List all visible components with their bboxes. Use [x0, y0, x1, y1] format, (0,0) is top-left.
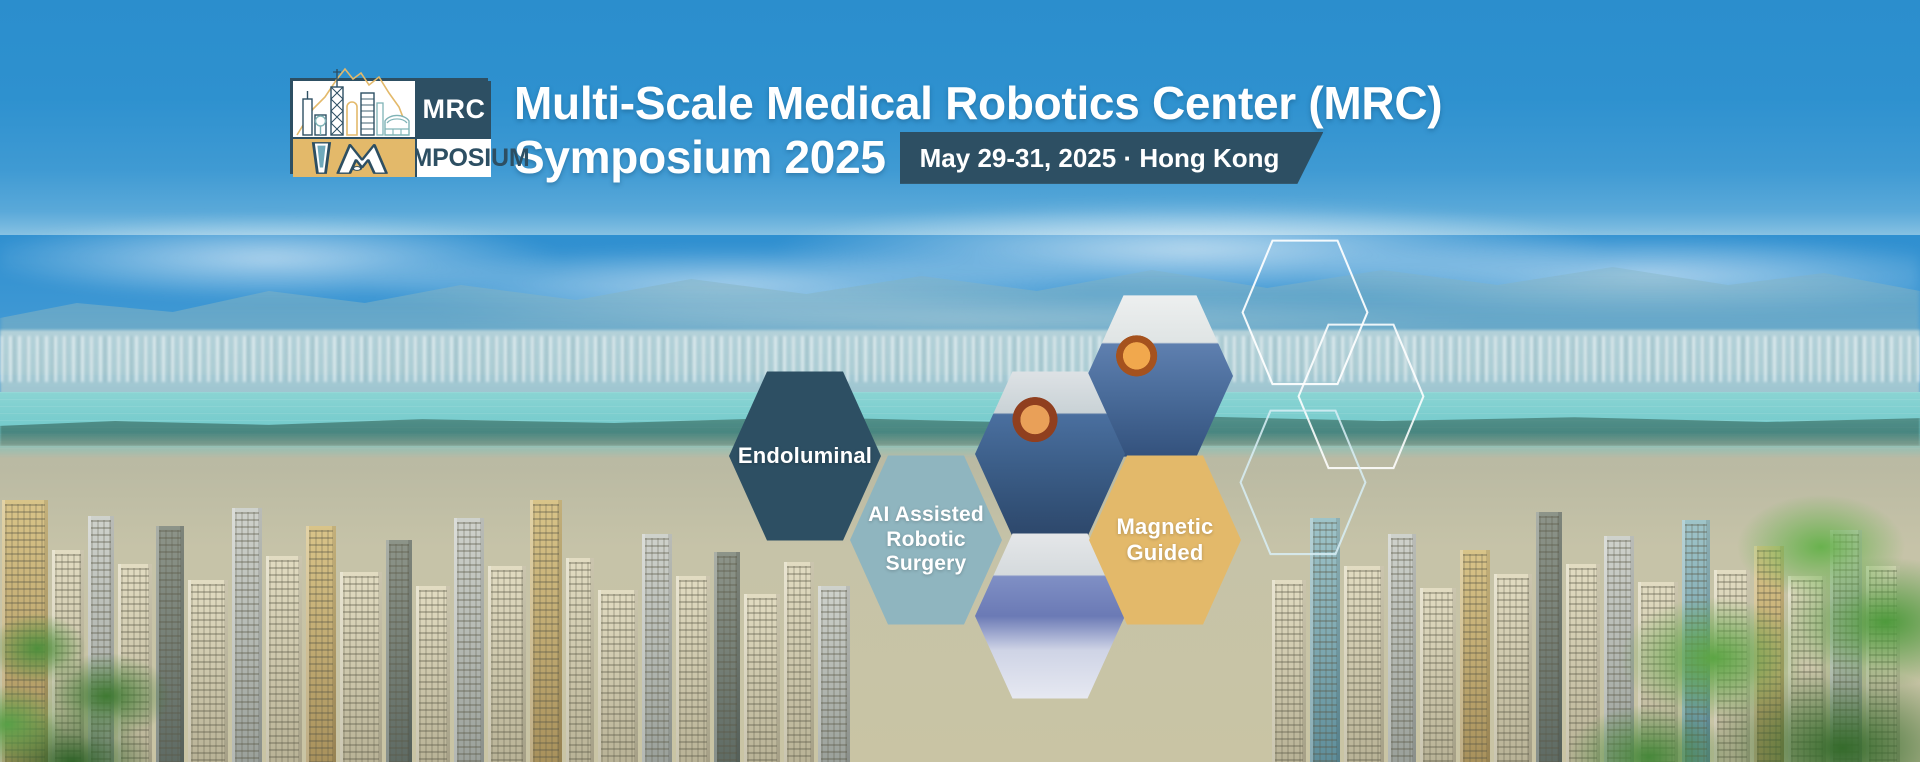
page-title: Multi-Scale Medical Robotics Center (MRC… [514, 80, 1442, 128]
mrc-symposium-banner: Endoluminal AI AssistedRoboticSurgery Ma… [0, 0, 1920, 762]
logo-symposium-text: SYMPOSIUM [417, 137, 491, 177]
title-row-secondary: Symposium 2025 May 29-31, 2025 · Hong Ko… [514, 132, 1442, 184]
hexagon-ai-assisted-robotic-surgery[interactable]: AI AssistedRoboticSurgery [850, 452, 1002, 628]
logo-mrc-text: MRC [417, 81, 491, 137]
hexagon-ai-assisted-robotic-surgery-label: AI AssistedRoboticSurgery [860, 503, 992, 576]
outline-hex-mid [1238, 408, 1368, 558]
banner-header: MRC SYMPOSIUM Multi-Scale Medical Roboti… [290, 78, 1442, 184]
hexagon-endoluminal-label: Endoluminal [730, 443, 880, 469]
hong-kong-skyline-icon [293, 81, 417, 137]
mrc-m-monogram-icon [293, 137, 417, 177]
date-location-badge: May 29-31, 2025 · Hong Kong [900, 132, 1324, 184]
page-subtitle: Symposium 2025 [514, 134, 886, 182]
hexagon-magnetic-guided-label: MagneticGuided [1109, 514, 1222, 565]
title-block: Multi-Scale Medical Robotics Center (MRC… [514, 78, 1442, 184]
hexagon-endoluminal[interactable]: Endoluminal [729, 368, 881, 544]
mrc-symposium-logo[interactable]: MRC SYMPOSIUM [290, 78, 488, 174]
